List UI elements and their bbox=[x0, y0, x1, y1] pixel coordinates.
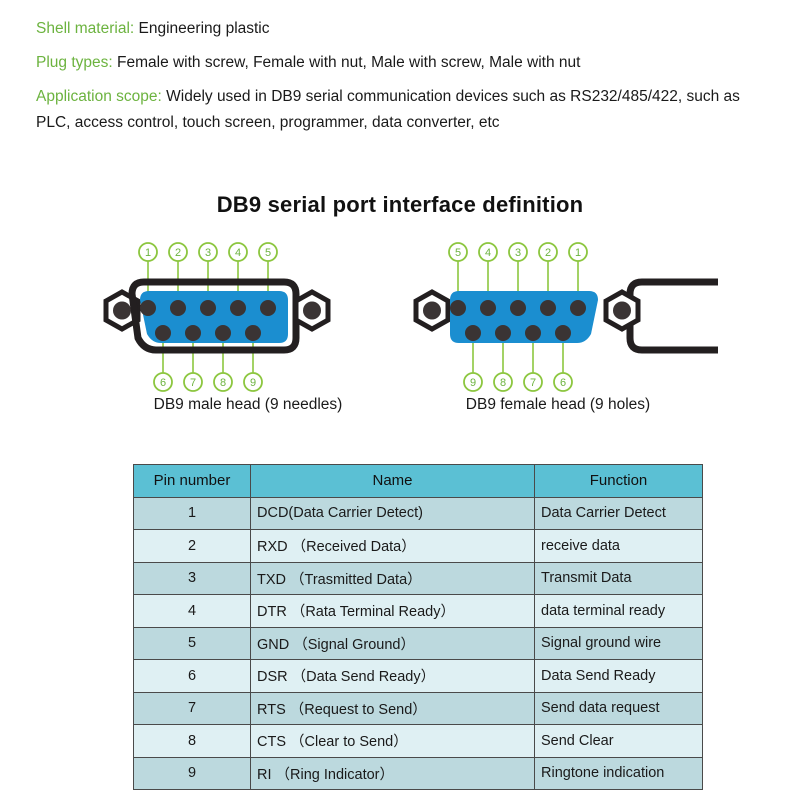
pin-number-badges-top: 5 4 3 2 1 bbox=[449, 243, 587, 261]
pin-number-badges-bottom: 9 8 7 6 bbox=[464, 373, 572, 391]
cell-function: Ringtone indication bbox=[535, 757, 703, 790]
db9-female-connector-figure: 5 4 3 2 1 9 8 7 6 DB9 female head bbox=[398, 238, 718, 438]
cell-pin-number: 8 bbox=[134, 725, 251, 758]
cell-pin-number: 4 bbox=[134, 595, 251, 628]
hex-nut-left-icon bbox=[416, 292, 448, 329]
cell-name: TXD （Trasmitted Data） bbox=[251, 562, 535, 595]
pin-badge-label: 1 bbox=[575, 247, 581, 259]
cell-pin-number: 1 bbox=[134, 497, 251, 530]
pin-badge-label: 7 bbox=[530, 377, 536, 389]
pin-badge-label: 7 bbox=[190, 377, 196, 389]
column-header-function: Function bbox=[535, 465, 703, 498]
pin-badge-label: 5 bbox=[455, 247, 461, 259]
pin-badge-label: 3 bbox=[205, 247, 211, 259]
table-row: 1 DCD(Data Carrier Detect) Data Carrier … bbox=[134, 497, 703, 530]
specification-list: Shell material: Engineering plastic Plug… bbox=[36, 16, 776, 144]
spec-label: Plug types: bbox=[36, 54, 113, 71]
cell-name: RXD （Received Data） bbox=[251, 530, 535, 563]
cell-function: Send Clear bbox=[535, 725, 703, 758]
pin-badge-label: 8 bbox=[220, 377, 226, 389]
table-row: 7 RTS （Request to Send） Send data reques… bbox=[134, 692, 703, 725]
hex-nut-right-icon bbox=[606, 292, 638, 329]
pin-badge-label: 2 bbox=[175, 247, 181, 259]
pin-badge-label: 5 bbox=[265, 247, 271, 259]
cell-function: Send data request bbox=[535, 692, 703, 725]
pin-number-badges-bottom: 6 7 8 9 bbox=[154, 373, 262, 391]
spec-value: Female with screw, Female with nut, Male… bbox=[117, 54, 580, 71]
hex-nut-right-icon bbox=[296, 292, 328, 329]
connector-shell-outline bbox=[630, 282, 718, 350]
pin-badge-label: 3 bbox=[515, 247, 521, 259]
cell-function: data terminal ready bbox=[535, 595, 703, 628]
table-row: 2 RXD （Received Data） receive data bbox=[134, 530, 703, 563]
cell-name: DTR （Rata Terminal Ready） bbox=[251, 595, 535, 628]
cell-name: DCD(Data Carrier Detect) bbox=[251, 497, 535, 530]
pin-badge-label: 6 bbox=[160, 377, 166, 389]
db9-male-connector-icon: 1 2 3 4 5 6 7 8 9 bbox=[88, 238, 408, 398]
column-header-name: Name bbox=[251, 465, 535, 498]
cell-pin-number: 5 bbox=[134, 627, 251, 660]
pin-badge-label: 4 bbox=[485, 247, 491, 259]
table-body: 1 DCD(Data Carrier Detect) Data Carrier … bbox=[134, 497, 703, 790]
pin-badge-label: 4 bbox=[235, 247, 241, 259]
table-row: 5 GND （Signal Ground） Signal ground wire bbox=[134, 627, 703, 660]
table-row: 9 RI （Ring Indicator） Ringtone indicatio… bbox=[134, 757, 703, 790]
male-connector-caption: DB9 male head (9 needles) bbox=[88, 396, 408, 414]
section-title: DB9 serial port interface definition bbox=[0, 192, 800, 218]
cell-pin-number: 7 bbox=[134, 692, 251, 725]
pin-badge-label: 1 bbox=[145, 247, 151, 259]
cell-function: Signal ground wire bbox=[535, 627, 703, 660]
spec-label: Application scope: bbox=[36, 88, 162, 105]
table-row: 6 DSR （Data Send Ready） Data Send Ready bbox=[134, 660, 703, 693]
cell-pin-number: 9 bbox=[134, 757, 251, 790]
table-header-row: Pin number Name Function bbox=[134, 465, 703, 498]
cell-pin-number: 3 bbox=[134, 562, 251, 595]
female-connector-caption: DB9 female head (9 holes) bbox=[398, 396, 718, 414]
pin-badge-label: 2 bbox=[545, 247, 551, 259]
pin-definition-table: Pin number Name Function 1 DCD(Data Carr… bbox=[133, 464, 703, 790]
cell-function: Data Send Ready bbox=[535, 660, 703, 693]
cell-name: RI （Ring Indicator） bbox=[251, 757, 535, 790]
pin-badge-label: 9 bbox=[470, 377, 476, 389]
pin-definition-table-container: Pin number Name Function 1 DCD(Data Carr… bbox=[133, 464, 663, 790]
table-row: 8 CTS （Clear to Send） Send Clear bbox=[134, 725, 703, 758]
cell-pin-number: 6 bbox=[134, 660, 251, 693]
cell-function: receive data bbox=[535, 530, 703, 563]
table-row: 3 TXD （Trasmitted Data） Transmit Data bbox=[134, 562, 703, 595]
column-header-pin-number: Pin number bbox=[134, 465, 251, 498]
cell-name: RTS （Request to Send） bbox=[251, 692, 535, 725]
cell-pin-number: 2 bbox=[134, 530, 251, 563]
cell-name: GND （Signal Ground） bbox=[251, 627, 535, 660]
spec-label: Shell material: bbox=[36, 20, 134, 37]
cell-function: Data Carrier Detect bbox=[535, 497, 703, 530]
db9-female-connector-icon: 5 4 3 2 1 9 8 7 6 bbox=[398, 238, 718, 398]
spec-value: Engineering plastic bbox=[139, 20, 270, 37]
spec-item-shell-material: Shell material: Engineering plastic bbox=[36, 16, 776, 42]
pin-badge-label: 6 bbox=[560, 377, 566, 389]
cell-name: DSR （Data Send Ready） bbox=[251, 660, 535, 693]
spec-item-application-scope: Application scope: Widely used in DB9 se… bbox=[36, 84, 776, 136]
cell-name: CTS （Clear to Send） bbox=[251, 725, 535, 758]
connector-figures: 1 2 3 4 5 6 7 8 9 DB9 male bbox=[0, 238, 800, 438]
db9-male-connector-figure: 1 2 3 4 5 6 7 8 9 DB9 male bbox=[88, 238, 408, 438]
cell-function: Transmit Data bbox=[535, 562, 703, 595]
pin-badge-label: 9 bbox=[250, 377, 256, 389]
spec-item-plug-types: Plug types: Female with screw, Female wi… bbox=[36, 50, 776, 76]
pin-badge-label: 8 bbox=[500, 377, 506, 389]
pin-number-badges-top: 1 2 3 4 5 bbox=[139, 243, 277, 261]
table-header: Pin number Name Function bbox=[134, 465, 703, 498]
table-row: 4 DTR （Rata Terminal Ready） data termina… bbox=[134, 595, 703, 628]
